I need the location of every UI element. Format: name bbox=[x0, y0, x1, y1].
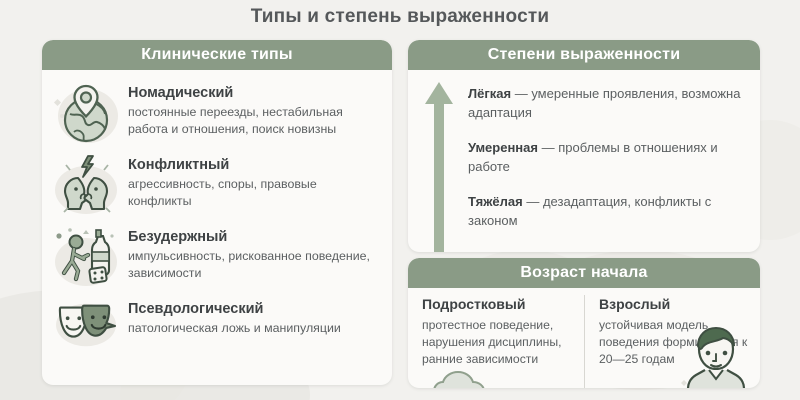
list-item-title: Номадический bbox=[128, 84, 380, 102]
list-item-desc: импульсивность, рискованное поведение, з… bbox=[128, 248, 380, 282]
arguing-heads-icon bbox=[50, 152, 122, 218]
cloud-shape-icon bbox=[430, 366, 516, 388]
list-item-title: Конфликтный bbox=[128, 156, 380, 174]
list-item: Номадический постоянные переезды, нестаб… bbox=[42, 76, 392, 148]
age-of-onset-body: Подростковый протестное поведение, наруш… bbox=[408, 288, 760, 388]
age-column-desc: протестное поведение, нарушения дисципли… bbox=[422, 317, 574, 368]
young-man-icon bbox=[678, 322, 754, 388]
severity-name: Умеренная bbox=[468, 140, 538, 155]
list-item-desc: постоянные переезды, нестабильная работа… bbox=[128, 104, 380, 138]
list-item: Тяжёлая — дезадаптация, конфликты с зако… bbox=[468, 192, 750, 230]
list-item: Умеренная — проблемы в отношениях и рабо… bbox=[468, 138, 750, 176]
list-item-desc: агрессивность, споры, правовые конфликты bbox=[128, 176, 380, 210]
list-item: Лёгкая — умеренные проявления, возможна … bbox=[468, 84, 750, 122]
list-item-desc: патологическая ложь и манипуляции bbox=[128, 320, 380, 337]
age-of-onset-card: Возраст начала Подростковый протестное п… bbox=[408, 258, 760, 388]
globe-location-pin-icon bbox=[50, 80, 122, 146]
list-item: Безудержный импульсивность, рискованное … bbox=[42, 220, 392, 292]
age-column-adolescent: Подростковый протестное поведение, наруш… bbox=[408, 295, 584, 388]
severity-separator: — bbox=[523, 194, 543, 209]
severity-name: Тяжёлая bbox=[468, 194, 523, 209]
theater-masks-icon bbox=[50, 296, 122, 362]
page-title: Типы и степень выраженности bbox=[0, 6, 800, 28]
severity-card: Степени выраженности Лёгкая — умеренные … bbox=[408, 40, 760, 252]
up-arrow-icon bbox=[422, 80, 456, 244]
list-item-title: Псевдологический bbox=[128, 300, 380, 318]
clinical-types-card: Клинические типы Номадический постоян bbox=[42, 40, 392, 385]
severity-name: Лёгкая bbox=[468, 86, 511, 101]
running-man-bottle-dice-icon bbox=[50, 224, 122, 290]
severity-body: Лёгкая — умеренные проявления, возможна … bbox=[408, 70, 760, 252]
severity-list: Лёгкая — умеренные проявления, возможна … bbox=[468, 80, 750, 244]
severity-separator: — bbox=[511, 86, 531, 101]
severity-separator: — bbox=[538, 140, 558, 155]
clinical-types-list: Номадический постоянные переезды, нестаб… bbox=[42, 70, 392, 364]
age-column-title: Взрослый bbox=[599, 295, 750, 314]
age-column-title: Подростковый bbox=[422, 295, 574, 314]
age-of-onset-header: Возраст начала bbox=[408, 258, 760, 288]
severity-header: Степени выраженности bbox=[408, 40, 760, 70]
list-item: Конфликтный агрессивность, споры, правов… bbox=[42, 148, 392, 220]
list-item-title: Безудержный bbox=[128, 228, 380, 246]
list-item: Псевдологический патологическая ложь и м… bbox=[42, 292, 392, 364]
clinical-types-header: Клинические типы bbox=[42, 40, 392, 70]
